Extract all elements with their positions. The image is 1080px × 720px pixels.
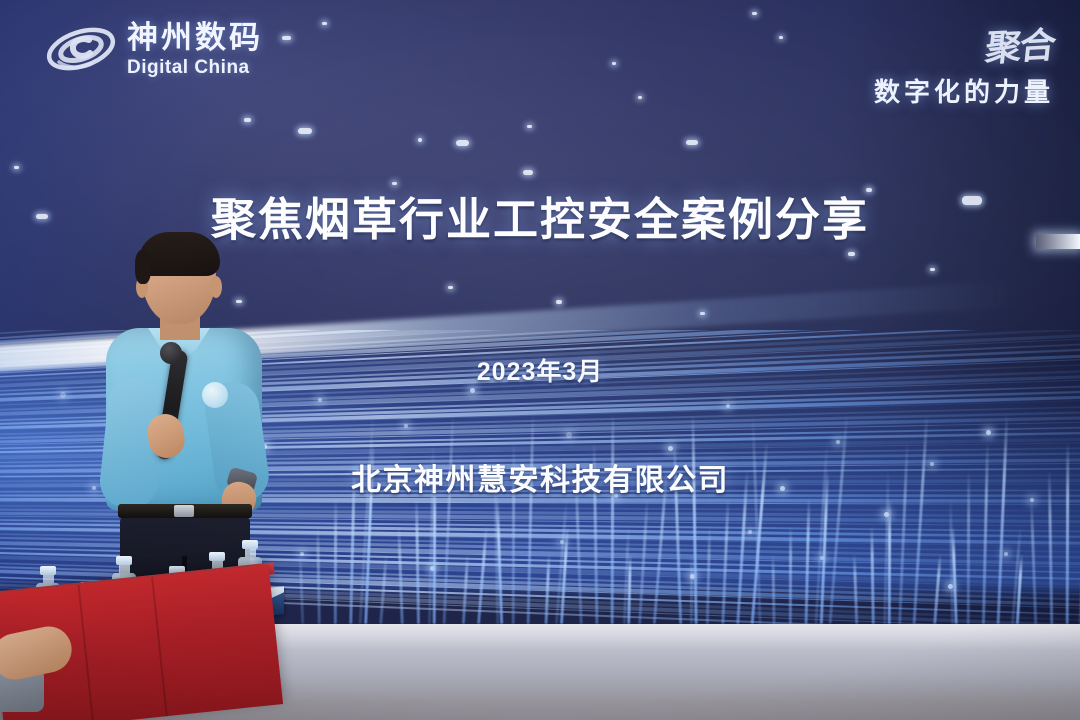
stage-photo: 神州数码 Digital China 聚合 数字化的力量 聚焦烟草行业工控安全案…	[0, 0, 1080, 720]
sparkle-particle	[752, 12, 757, 15]
sparkle-particle	[322, 22, 327, 25]
tablecloth-fold	[78, 585, 95, 720]
bokeh-dot	[404, 424, 408, 428]
bokeh-dot	[726, 404, 730, 408]
sparkle-particle	[298, 128, 312, 134]
sparkle-particle	[14, 166, 19, 169]
digital-china-swirl-logo-icon	[45, 18, 117, 80]
sparkle-particle	[638, 96, 642, 99]
sparkle-particle	[448, 286, 453, 289]
tablecloth-fold	[151, 577, 168, 716]
sparkle-particle	[282, 36, 291, 40]
bokeh-dot	[836, 440, 840, 444]
bokeh-dot	[1004, 552, 1008, 556]
sparkle-particle	[612, 62, 616, 65]
digital-china-logo: 神州数码 Digital China	[45, 18, 263, 80]
event-tagline: 数字化的力量	[874, 72, 1054, 109]
sparkle-particle	[456, 140, 469, 146]
bokeh-dot	[60, 392, 66, 398]
sparkle-particle	[523, 170, 533, 175]
sparkle-particle	[527, 125, 532, 128]
sparkle-particle	[930, 268, 935, 271]
bokeh-dot	[566, 432, 572, 438]
bottle-neck	[245, 549, 256, 557]
fiber-streak	[334, 498, 337, 624]
bottle-cap	[209, 552, 225, 561]
fiber-streak	[789, 526, 792, 624]
bokeh-dot	[470, 388, 475, 393]
bottle-cap	[40, 566, 56, 575]
sparkle-particle	[848, 252, 855, 256]
bottle-cap	[116, 556, 132, 565]
bottle-neck	[43, 575, 54, 583]
bottle-cap	[242, 540, 258, 549]
event-calligraphy: 聚合	[983, 16, 1057, 71]
fiber-streak	[690, 554, 693, 624]
sparkle-particle	[418, 138, 422, 142]
logo-english-name: Digital China	[127, 58, 263, 77]
sparkle-particle	[779, 36, 783, 39]
sparkle-particle	[686, 140, 698, 145]
bottle-neck	[119, 565, 130, 573]
logo-chinese-name: 神州数码	[127, 22, 263, 53]
bokeh-dot	[748, 530, 752, 534]
speaker-belt-buckle	[174, 505, 194, 517]
speaker-chest-logo	[202, 382, 228, 408]
speaker-right-ear	[210, 276, 222, 298]
sparkle-particle	[244, 118, 251, 122]
bokeh-dot	[986, 430, 991, 435]
sparkle-particle	[556, 300, 562, 304]
event-logo: 聚合 数字化的力量	[874, 18, 1054, 109]
speaker-hair	[138, 232, 220, 276]
bokeh-dot	[318, 398, 322, 402]
